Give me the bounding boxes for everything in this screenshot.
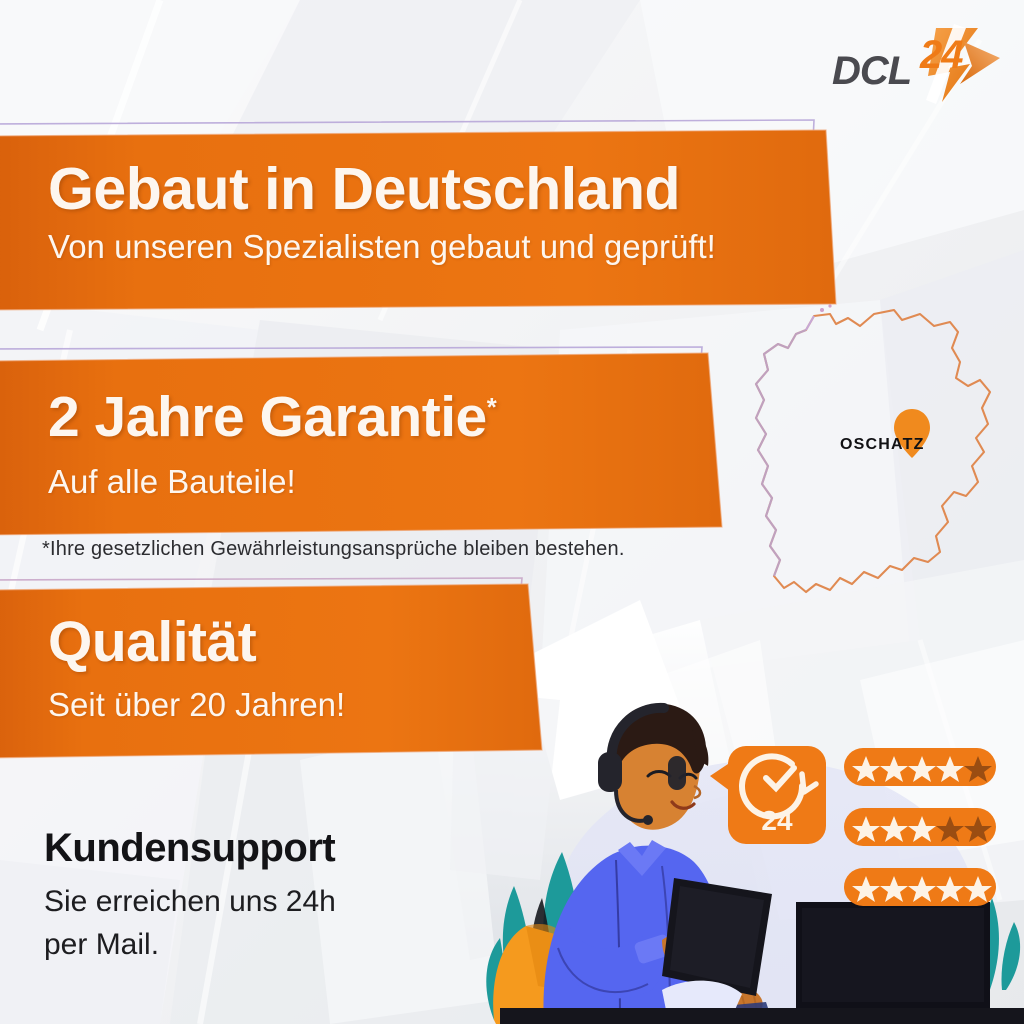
speech-bubble-badge-text: 24	[761, 805, 793, 836]
desk-surface	[500, 1008, 1024, 1024]
dcl24-logo[interactable]: DCL 24	[832, 22, 1002, 111]
banner-gebaut-in-deutschland: Gebaut in Deutschland Von unseren Spezia…	[0, 120, 716, 265]
banner-headline: Gebaut in Deutschland	[48, 160, 716, 219]
logo-artwork: DCL 24	[832, 22, 1002, 106]
banner-qualitaet: Qualität Seit über 20 Jahren!	[0, 578, 345, 723]
germany-outline-icon	[744, 300, 1012, 660]
logo-word-dcl: DCL	[832, 49, 911, 93]
illustration-artwork: 24	[466, 690, 1024, 1024]
support-subline-1: Sie erreichen uns 24h	[44, 881, 336, 924]
banner-asterisk: *	[487, 394, 496, 422]
promo-poster: DCL 24 OSCHATZ	[0, 0, 1024, 1024]
rating-badge-1	[844, 748, 996, 786]
support-headline: Kundensupport	[44, 826, 336, 871]
banner-subline: Auf alle Bauteile!	[48, 464, 496, 500]
logo-arrow-icon	[960, 42, 1000, 84]
banner-2-jahre-garantie: 2 Jahre Garantie* Auf alle Bauteile!	[0, 347, 496, 500]
banner-headline-text: Gebaut in Deutschland	[48, 156, 680, 222]
banner-headline: 2 Jahre Garantie*	[48, 389, 496, 446]
logo-word-24: 24	[919, 33, 963, 77]
germany-map: OSCHATZ	[744, 300, 1012, 665]
banner-headline: Qualität	[48, 614, 345, 671]
support-subline-2: per Mail.	[44, 924, 336, 967]
customer-support-block: Kundensupport Sie erreichen uns 24h per …	[44, 826, 336, 966]
rating-badge-2	[844, 808, 996, 846]
banner-headline-text: 2 Jahre Garantie	[48, 385, 487, 449]
rating-badge-3	[844, 868, 996, 906]
map-city-label: OSCHATZ	[840, 436, 925, 454]
rating-badges	[844, 748, 996, 906]
support-subline: Sie erreichen uns 24h per Mail.	[44, 881, 336, 966]
legal-footnote: *Ihre gesetzlichen Gewährleistungsansprü…	[42, 538, 625, 561]
support-agent-illustration: 24	[466, 690, 1024, 1024]
banner-subline: Seit über 20 Jahren!	[48, 687, 345, 723]
banner-headline-text: Qualität	[48, 610, 256, 674]
banner-subline: Von unseren Spezialisten gebaut und gepr…	[48, 229, 716, 265]
